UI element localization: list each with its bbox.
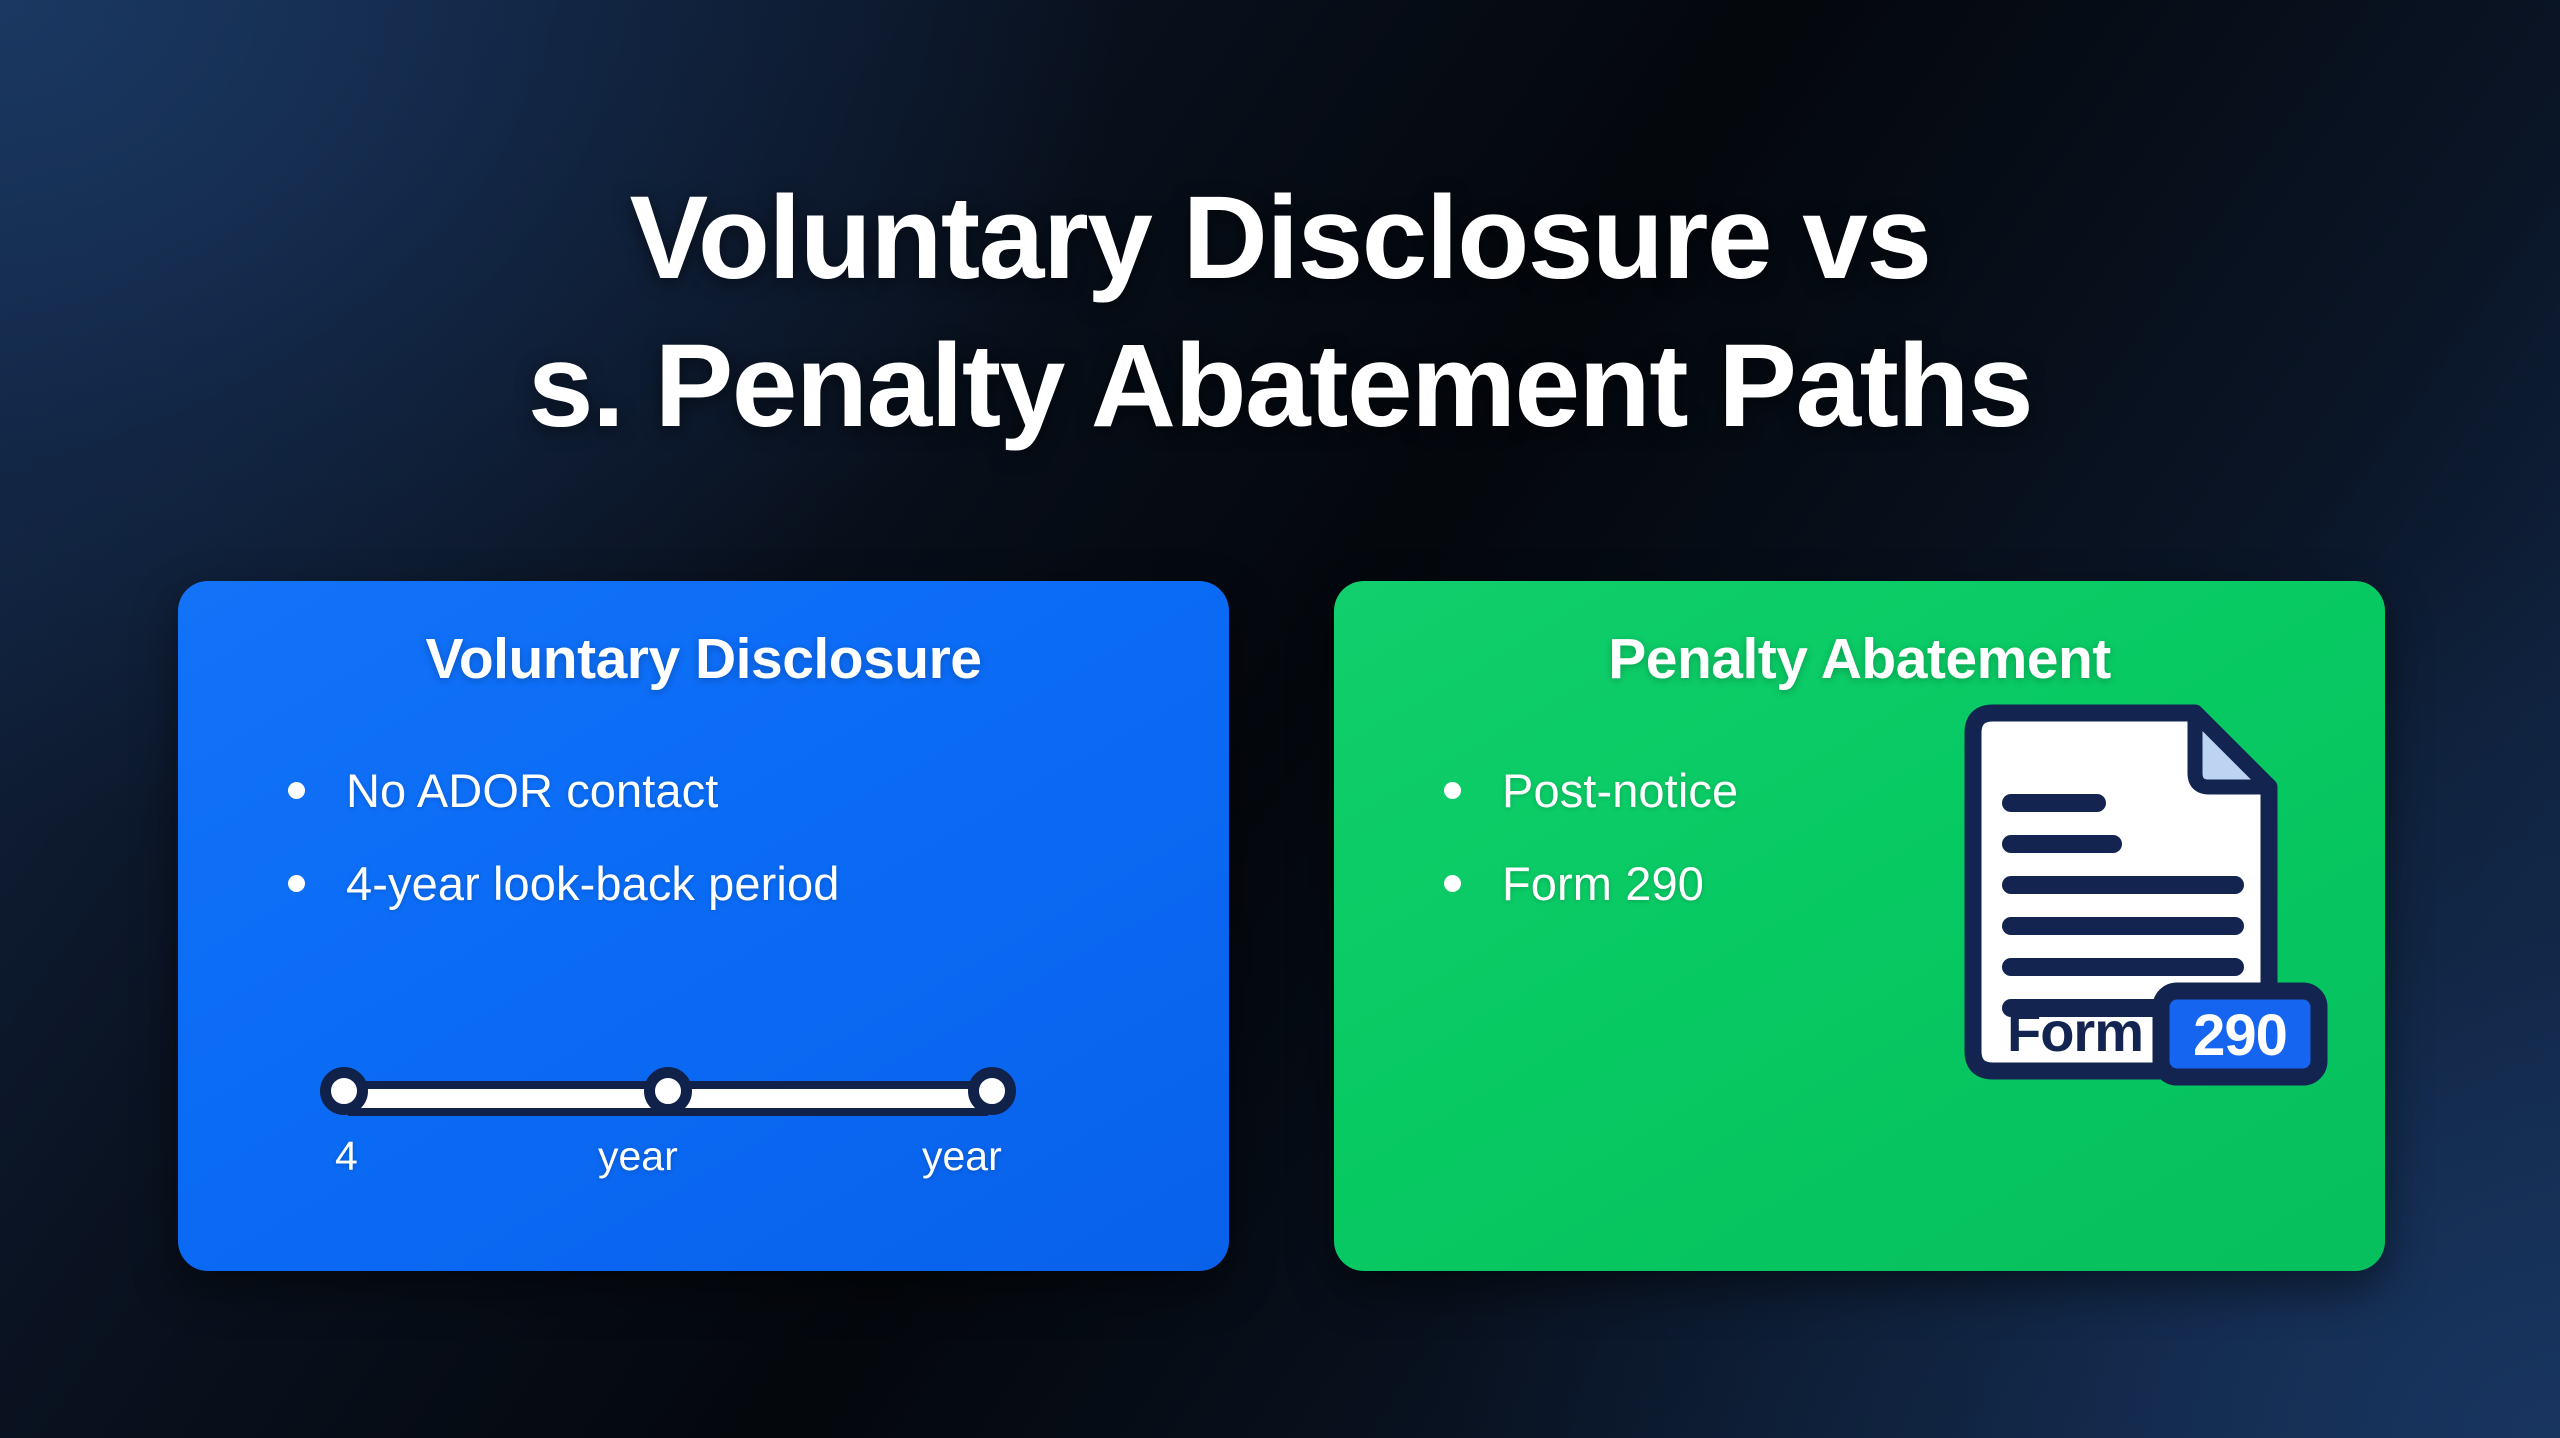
badge-290-label: 290 [2193, 1003, 2287, 1068]
card-penalty-abatement[interactable]: Penalty Abatement Post-notice Form 290 [1334, 581, 2385, 1271]
timeline-node-0-icon [320, 1067, 368, 1115]
document-fold-corner-icon [2195, 713, 2269, 787]
list-item: No ADOR contact [288, 762, 1229, 819]
list-item-label: Form 290 [1502, 857, 1704, 910]
bullet-dot-icon [288, 875, 305, 892]
card-voluntary-disclosure[interactable]: Voluntary Disclosure No ADOR contact 4-y… [178, 581, 1229, 1271]
timeline-label-1: year [598, 1136, 678, 1177]
page-title-line-1: Voluntary Disclosure vs [0, 172, 2560, 304]
lookback-timeline: 4 year year [310, 1046, 1026, 1196]
list-item-label: 4-year look-back period [346, 857, 839, 910]
slide-canvas: Voluntary Disclosure vs s. Penalty Abate… [0, 0, 2560, 1438]
timeline-label-2: year [922, 1136, 1002, 1177]
card-title-voluntary-disclosure: Voluntary Disclosure [178, 630, 1229, 690]
page-title-line-2: s. Penalty Abatement Paths [0, 320, 2560, 452]
page-title: Voluntary Disclosure vs s. Penalty Abate… [0, 172, 2560, 452]
comparison-cards: Voluntary Disclosure No ADOR contact 4-y… [178, 581, 2385, 1271]
document-form-label: Form [2007, 1000, 2143, 1063]
bullet-dot-icon [288, 782, 305, 799]
timeline-node-1-icon [644, 1067, 692, 1115]
list-item-label: Post-notice [1502, 764, 1738, 817]
timeline-node-2-icon [968, 1067, 1016, 1115]
timeline-label-0: 4 [335, 1136, 358, 1177]
list-item-label: No ADOR contact [346, 764, 718, 817]
card-title-penalty-abatement: Penalty Abatement [1334, 630, 2385, 690]
bullet-dot-icon [1444, 782, 1461, 799]
bullet-list-voluntary-disclosure: No ADOR contact 4-year look-back period [178, 762, 1229, 913]
list-item: 4-year look-back period [288, 855, 1229, 912]
form-290-document-icon: Form 290 [1949, 699, 2327, 1099]
bullet-dot-icon [1444, 875, 1461, 892]
